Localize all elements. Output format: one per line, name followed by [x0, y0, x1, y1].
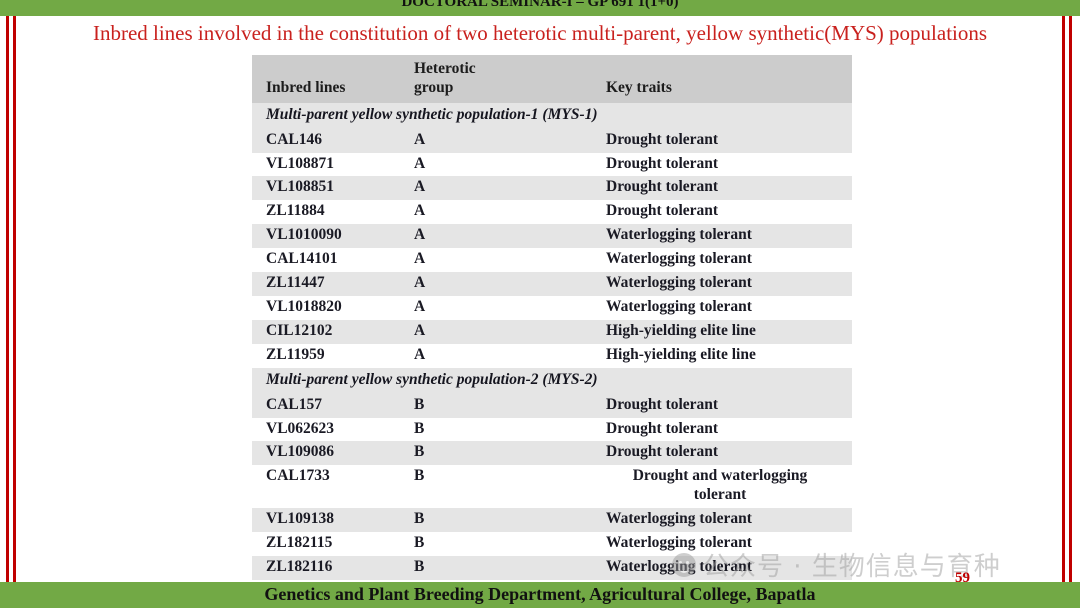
cell-inbred-line: CAL146	[252, 129, 412, 153]
table-row: VL1010090AWaterlogging tolerant	[252, 224, 852, 248]
table-row: ZL182116BWaterlogging tolerant	[252, 556, 852, 580]
table-row: ZL182115BWaterlogging tolerant	[252, 532, 852, 556]
cell-inbred-line: CAL1733	[252, 465, 412, 508]
table-row: VL108871ADrought tolerant	[252, 153, 852, 177]
cell-key-trait: Drought tolerant	[562, 153, 852, 177]
cell-inbred-line: VL1018820	[252, 296, 412, 320]
cell-key-trait: Drought tolerant	[562, 418, 852, 442]
cell-key-trait: High-yielding elite line	[562, 344, 852, 368]
cell-inbred-line: VL109138	[252, 508, 412, 532]
column-header-key-traits: Key traits	[562, 55, 852, 103]
table-row: CAL1733BDrought and waterlogging toleran…	[252, 465, 852, 508]
cell-key-trait: Waterlogging tolerant	[562, 296, 852, 320]
cell-heterotic-group: A	[412, 129, 562, 153]
table-section-label: Multi-parent yellow synthetic population…	[252, 103, 852, 129]
table-body: Multi-parent yellow synthetic population…	[252, 103, 852, 608]
cell-heterotic-group: B	[412, 441, 562, 465]
cell-heterotic-group: A	[412, 224, 562, 248]
cell-heterotic-group: B	[412, 508, 562, 532]
table-row: ZL11884ADrought tolerant	[252, 200, 852, 224]
table-row: CIL12102AHigh-yielding elite line	[252, 320, 852, 344]
cell-key-trait: Drought and waterlogging tolerant	[562, 465, 852, 508]
seminar-title: DOCTORAL SEMINAR-I – GP 691 1(1+0)	[0, 0, 1080, 11]
inbred-lines-table-wrapper: Inbred lines Heterotic group Key traits …	[252, 55, 852, 608]
cell-inbred-line: VL108851	[252, 176, 412, 200]
table-header: Inbred lines Heterotic group Key traits	[252, 55, 852, 103]
inbred-lines-table: Inbred lines Heterotic group Key traits …	[252, 55, 852, 608]
cell-key-trait: Waterlogging tolerant	[562, 508, 852, 532]
left-border-outer-line	[6, 14, 9, 584]
table-section-header-row: Multi-parent yellow synthetic population…	[252, 368, 852, 394]
right-border-inner-line	[1069, 14, 1072, 584]
table-section-header-row: Multi-parent yellow synthetic population…	[252, 103, 852, 129]
cell-heterotic-group: A	[412, 320, 562, 344]
table-row: VL109086BDrought tolerant	[252, 441, 852, 465]
table-header-row: Inbred lines Heterotic group Key traits	[252, 55, 852, 103]
cell-heterotic-group: A	[412, 200, 562, 224]
cell-key-trait: Waterlogging tolerant	[562, 556, 852, 580]
cell-key-trait: Waterlogging tolerant	[562, 248, 852, 272]
table-row: VL062623BDrought tolerant	[252, 418, 852, 442]
cell-heterotic-group: A	[412, 272, 562, 296]
heterotic-group-line1: Heterotic	[414, 60, 476, 77]
cell-heterotic-group: A	[412, 248, 562, 272]
department-footer-text: Genetics and Plant Breeding Department, …	[0, 584, 1080, 605]
cell-key-trait: Waterlogging tolerant	[562, 272, 852, 296]
cell-heterotic-group: B	[412, 556, 562, 580]
bottom-banner: Genetics and Plant Breeding Department, …	[0, 582, 1080, 608]
right-red-border	[1062, 14, 1074, 584]
cell-heterotic-group: A	[412, 153, 562, 177]
table-row: CAL157BDrought tolerant	[252, 394, 852, 418]
table-row: CAL14101AWaterlogging tolerant	[252, 248, 852, 272]
cell-inbred-line: VL1010090	[252, 224, 412, 248]
cell-heterotic-group: B	[412, 465, 562, 508]
cell-key-trait: Drought tolerant	[562, 176, 852, 200]
column-header-inbred-lines: Inbred lines	[252, 55, 412, 103]
cell-key-trait: Waterlogging tolerant	[562, 224, 852, 248]
cell-inbred-line: CAL157	[252, 394, 412, 418]
cell-inbred-line: VL062623	[252, 418, 412, 442]
slide-canvas: DOCTORAL SEMINAR-I – GP 691 1(1+0) Inbre…	[0, 0, 1080, 608]
cell-inbred-line: CIL12102	[252, 320, 412, 344]
table-row: CAL146ADrought tolerant	[252, 129, 852, 153]
cell-inbred-line: ZL11884	[252, 200, 412, 224]
cell-key-trait: High-yielding elite line	[562, 320, 852, 344]
heterotic-group-line2: group	[414, 79, 453, 96]
cell-heterotic-group: B	[412, 418, 562, 442]
cell-inbred-line: VL109086	[252, 441, 412, 465]
page-title: Inbred lines involved in the constitutio…	[0, 21, 1080, 46]
column-header-heterotic-group: Heterotic group	[412, 55, 562, 103]
cell-key-trait: Drought tolerant	[562, 441, 852, 465]
left-border-inner-line	[13, 14, 16, 584]
cell-key-trait: Drought tolerant	[562, 200, 852, 224]
cell-inbred-line: ZL11959	[252, 344, 412, 368]
table-section-label: Multi-parent yellow synthetic population…	[252, 368, 852, 394]
cell-inbred-line: ZL182115	[252, 532, 412, 556]
cell-heterotic-group: B	[412, 532, 562, 556]
right-border-outer-line	[1062, 14, 1065, 584]
cell-key-trait: Waterlogging tolerant	[562, 532, 852, 556]
table-row: ZL11447AWaterlogging tolerant	[252, 272, 852, 296]
cell-heterotic-group: B	[412, 394, 562, 418]
cell-heterotic-group: A	[412, 176, 562, 200]
table-row: VL108851ADrought tolerant	[252, 176, 852, 200]
cell-heterotic-group: A	[412, 296, 562, 320]
table-row: ZL11959AHigh-yielding elite line	[252, 344, 852, 368]
cell-key-trait: Drought tolerant	[562, 129, 852, 153]
table-row: VL109138BWaterlogging tolerant	[252, 508, 852, 532]
cell-heterotic-group: A	[412, 344, 562, 368]
cell-inbred-line: ZL11447	[252, 272, 412, 296]
left-red-border	[6, 14, 18, 584]
cell-inbred-line: ZL182116	[252, 556, 412, 580]
table-row: VL1018820AWaterlogging tolerant	[252, 296, 852, 320]
top-banner: DOCTORAL SEMINAR-I – GP 691 1(1+0)	[0, 0, 1080, 16]
cell-inbred-line: CAL14101	[252, 248, 412, 272]
cell-key-trait: Drought tolerant	[562, 394, 852, 418]
cell-inbred-line: VL108871	[252, 153, 412, 177]
